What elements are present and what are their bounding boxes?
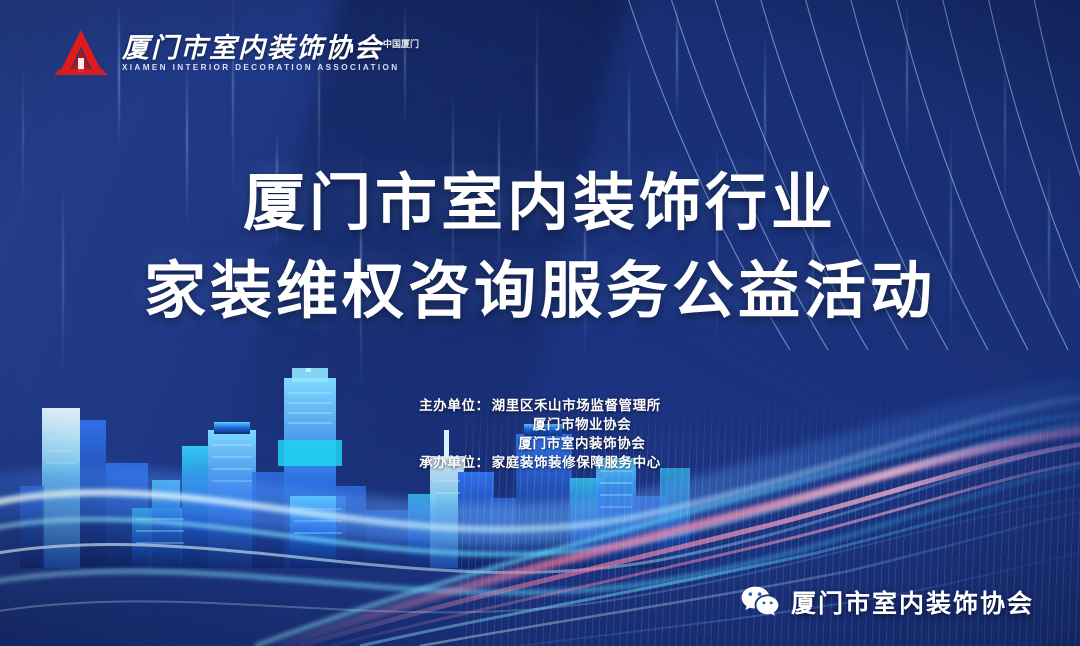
logo-name-cn: 厦门市室内装饰协会中国厦门: [122, 35, 419, 62]
wechat-account-name: 厦门市室内装饰协会: [791, 584, 1034, 620]
host-row-1: 主办单位：湖里区禾山市场监督管理所: [0, 396, 1080, 415]
host-label: 主办单位：: [419, 398, 490, 413]
xida-triangle-mark-icon: [52, 28, 110, 78]
headline-block: 厦门市室内装饰行业 家装维权咨询服务公益活动: [0, 168, 1080, 328]
association-logo: 厦门市室内装饰协会中国厦门 XIAMEN INTERIOR DECORATION…: [52, 28, 419, 78]
headline-line-1: 厦门市室内装饰行业: [0, 168, 1080, 240]
headline-line-2: 家装维权咨询服务公益活动: [0, 256, 1080, 328]
host-item-3: 厦门市室内装饰协会: [519, 436, 646, 451]
wechat-badge[interactable]: 厦门市室内装饰协会: [740, 584, 1034, 620]
organizer-item-1: 家庭装饰装修保障服务中心: [492, 455, 661, 470]
host-row-2: 厦门市物业协会: [0, 415, 1080, 434]
logo-name-cn-suffix: 中国厦门: [383, 39, 419, 49]
host-item-1: 湖里区禾山市场监督管理所: [492, 398, 661, 413]
wechat-icon: [740, 585, 780, 619]
organizer-label: 承办单位：: [419, 455, 490, 470]
host-row-3: 厦门市室内装饰协会: [0, 434, 1080, 453]
poster-banner: 厦门市室内装饰协会中国厦门 XIAMEN INTERIOR DECORATION…: [0, 0, 1080, 646]
organizer-block: 主办单位：湖里区禾山市场监督管理所 厦门市物业协会 厦门市室内装饰协会 承办单位…: [0, 396, 1080, 472]
host-item-2: 厦门市物业协会: [533, 417, 632, 432]
organizer-row-1: 承办单位：家庭装饰装修保障服务中心: [0, 453, 1080, 472]
logo-name-en: XIAMEN INTERIOR DECORATION ASSOCIATION: [122, 63, 419, 72]
